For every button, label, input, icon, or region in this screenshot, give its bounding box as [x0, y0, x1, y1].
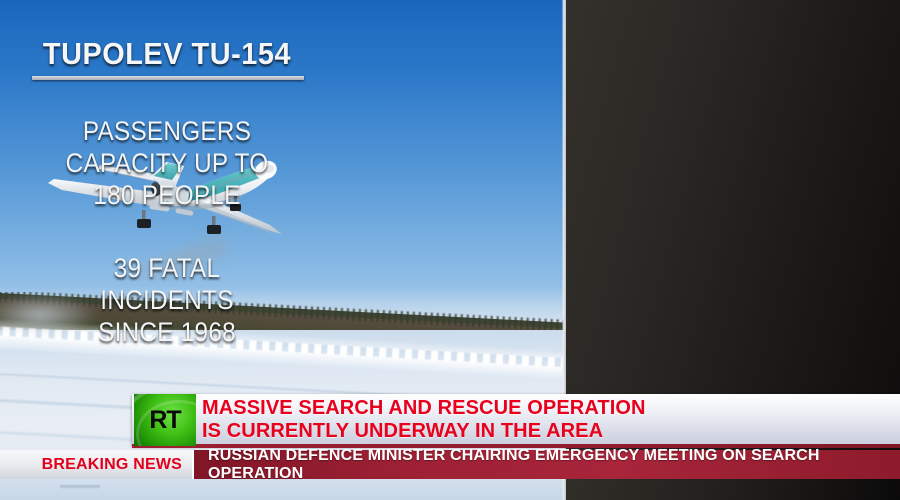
panel-fact-incidents: 39 FATAL INCIDENTS SINCE 1968 [17, 252, 318, 348]
headline-line-2: IS CURRENTLY UNDERWAY IN THE AREA [202, 420, 894, 443]
headline-text: MASSIVE SEARCH AND RESCUE OPERATION IS C… [202, 397, 894, 443]
breaking-news-ticker: BREAKING NEWS RUSSIAN DEFENCE MINISTER C… [0, 450, 900, 479]
panel-fact-passengers: PASSENGERS CAPACITY UP TO 180 PEOPLE [17, 115, 318, 211]
panel-title-underline [32, 76, 304, 80]
headline-banner: MASSIVE SEARCH AND RESCUE OPERATION IS C… [132, 394, 900, 446]
rt-logo: RT [134, 394, 196, 446]
panel-title: TUPOLEV TU-154 [12, 36, 323, 72]
ticker-text: RUSSIAN DEFENCE MINISTER CHAIRING EMERGE… [208, 447, 900, 483]
breaking-news-label: BREAKING NEWS [0, 450, 194, 479]
ticker-body: RUSSIAN DEFENCE MINISTER CHAIRING EMERGE… [194, 450, 900, 479]
broadcast-screen: TUPOLEV TU-154 PASSENGERS CAPACITY UP TO… [0, 0, 900, 500]
rt-logo-text: RT [134, 394, 196, 446]
breaking-news-label-text: BREAKING NEWS [42, 456, 182, 474]
headline-line-1: MASSIVE SEARCH AND RESCUE OPERATION [202, 397, 894, 420]
